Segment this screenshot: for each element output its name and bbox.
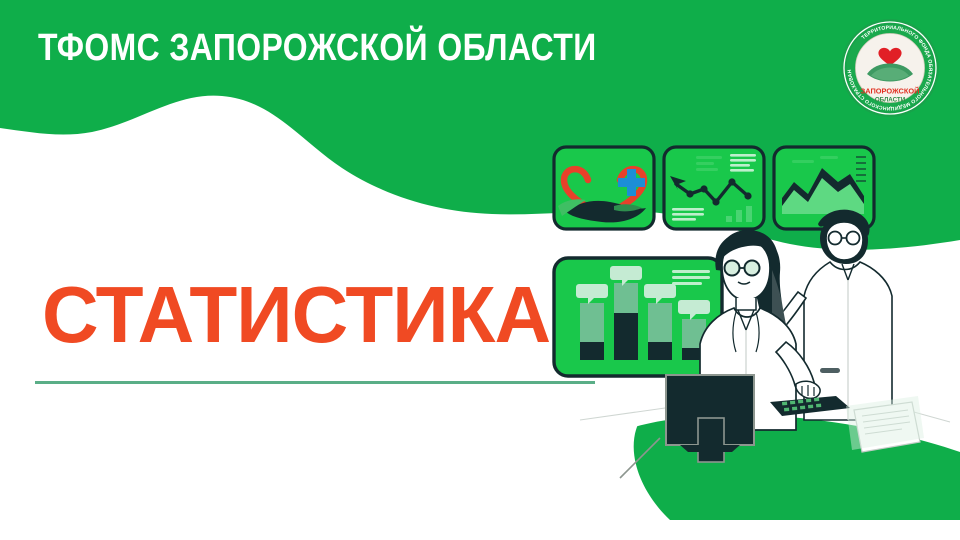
tfoms-emblem-icon: ТЕРРИТОРИАЛЬНОГО ФОНДА ОБЯЗАТЕЛЬНОГО МЕД…: [840, 18, 940, 118]
paper-sheet: [846, 396, 924, 452]
panel-heart-care: [554, 147, 654, 229]
panel-line-chart: [664, 147, 764, 229]
svg-text:ЗАПОРОЖСКОЙ: ЗАПОРОЖСКОЙ: [861, 87, 920, 96]
page-title: ТФОМС ЗАПОРОЖСКОЙ ОБЛАСТИ: [38, 29, 597, 67]
headline: СТАТИСТИКА: [42, 275, 550, 355]
headline-underline: [35, 381, 595, 384]
panel-bar-chart: [554, 258, 722, 376]
svg-text:ОБЛАСТИ: ОБЛАСТИ: [875, 97, 906, 104]
logo[interactable]: ТЕРРИТОРИАЛЬНОГО ФОНДА ОБЯЗАТЕЛЬНОГО МЕД…: [840, 18, 940, 118]
analytics-doctors-illustration: [520, 120, 960, 520]
slide-root: ТФОМС ЗАПОРОЖСКОЙ ОБЛАСТИ ТЕРРИТОРИАЛЬНО…: [0, 0, 960, 540]
